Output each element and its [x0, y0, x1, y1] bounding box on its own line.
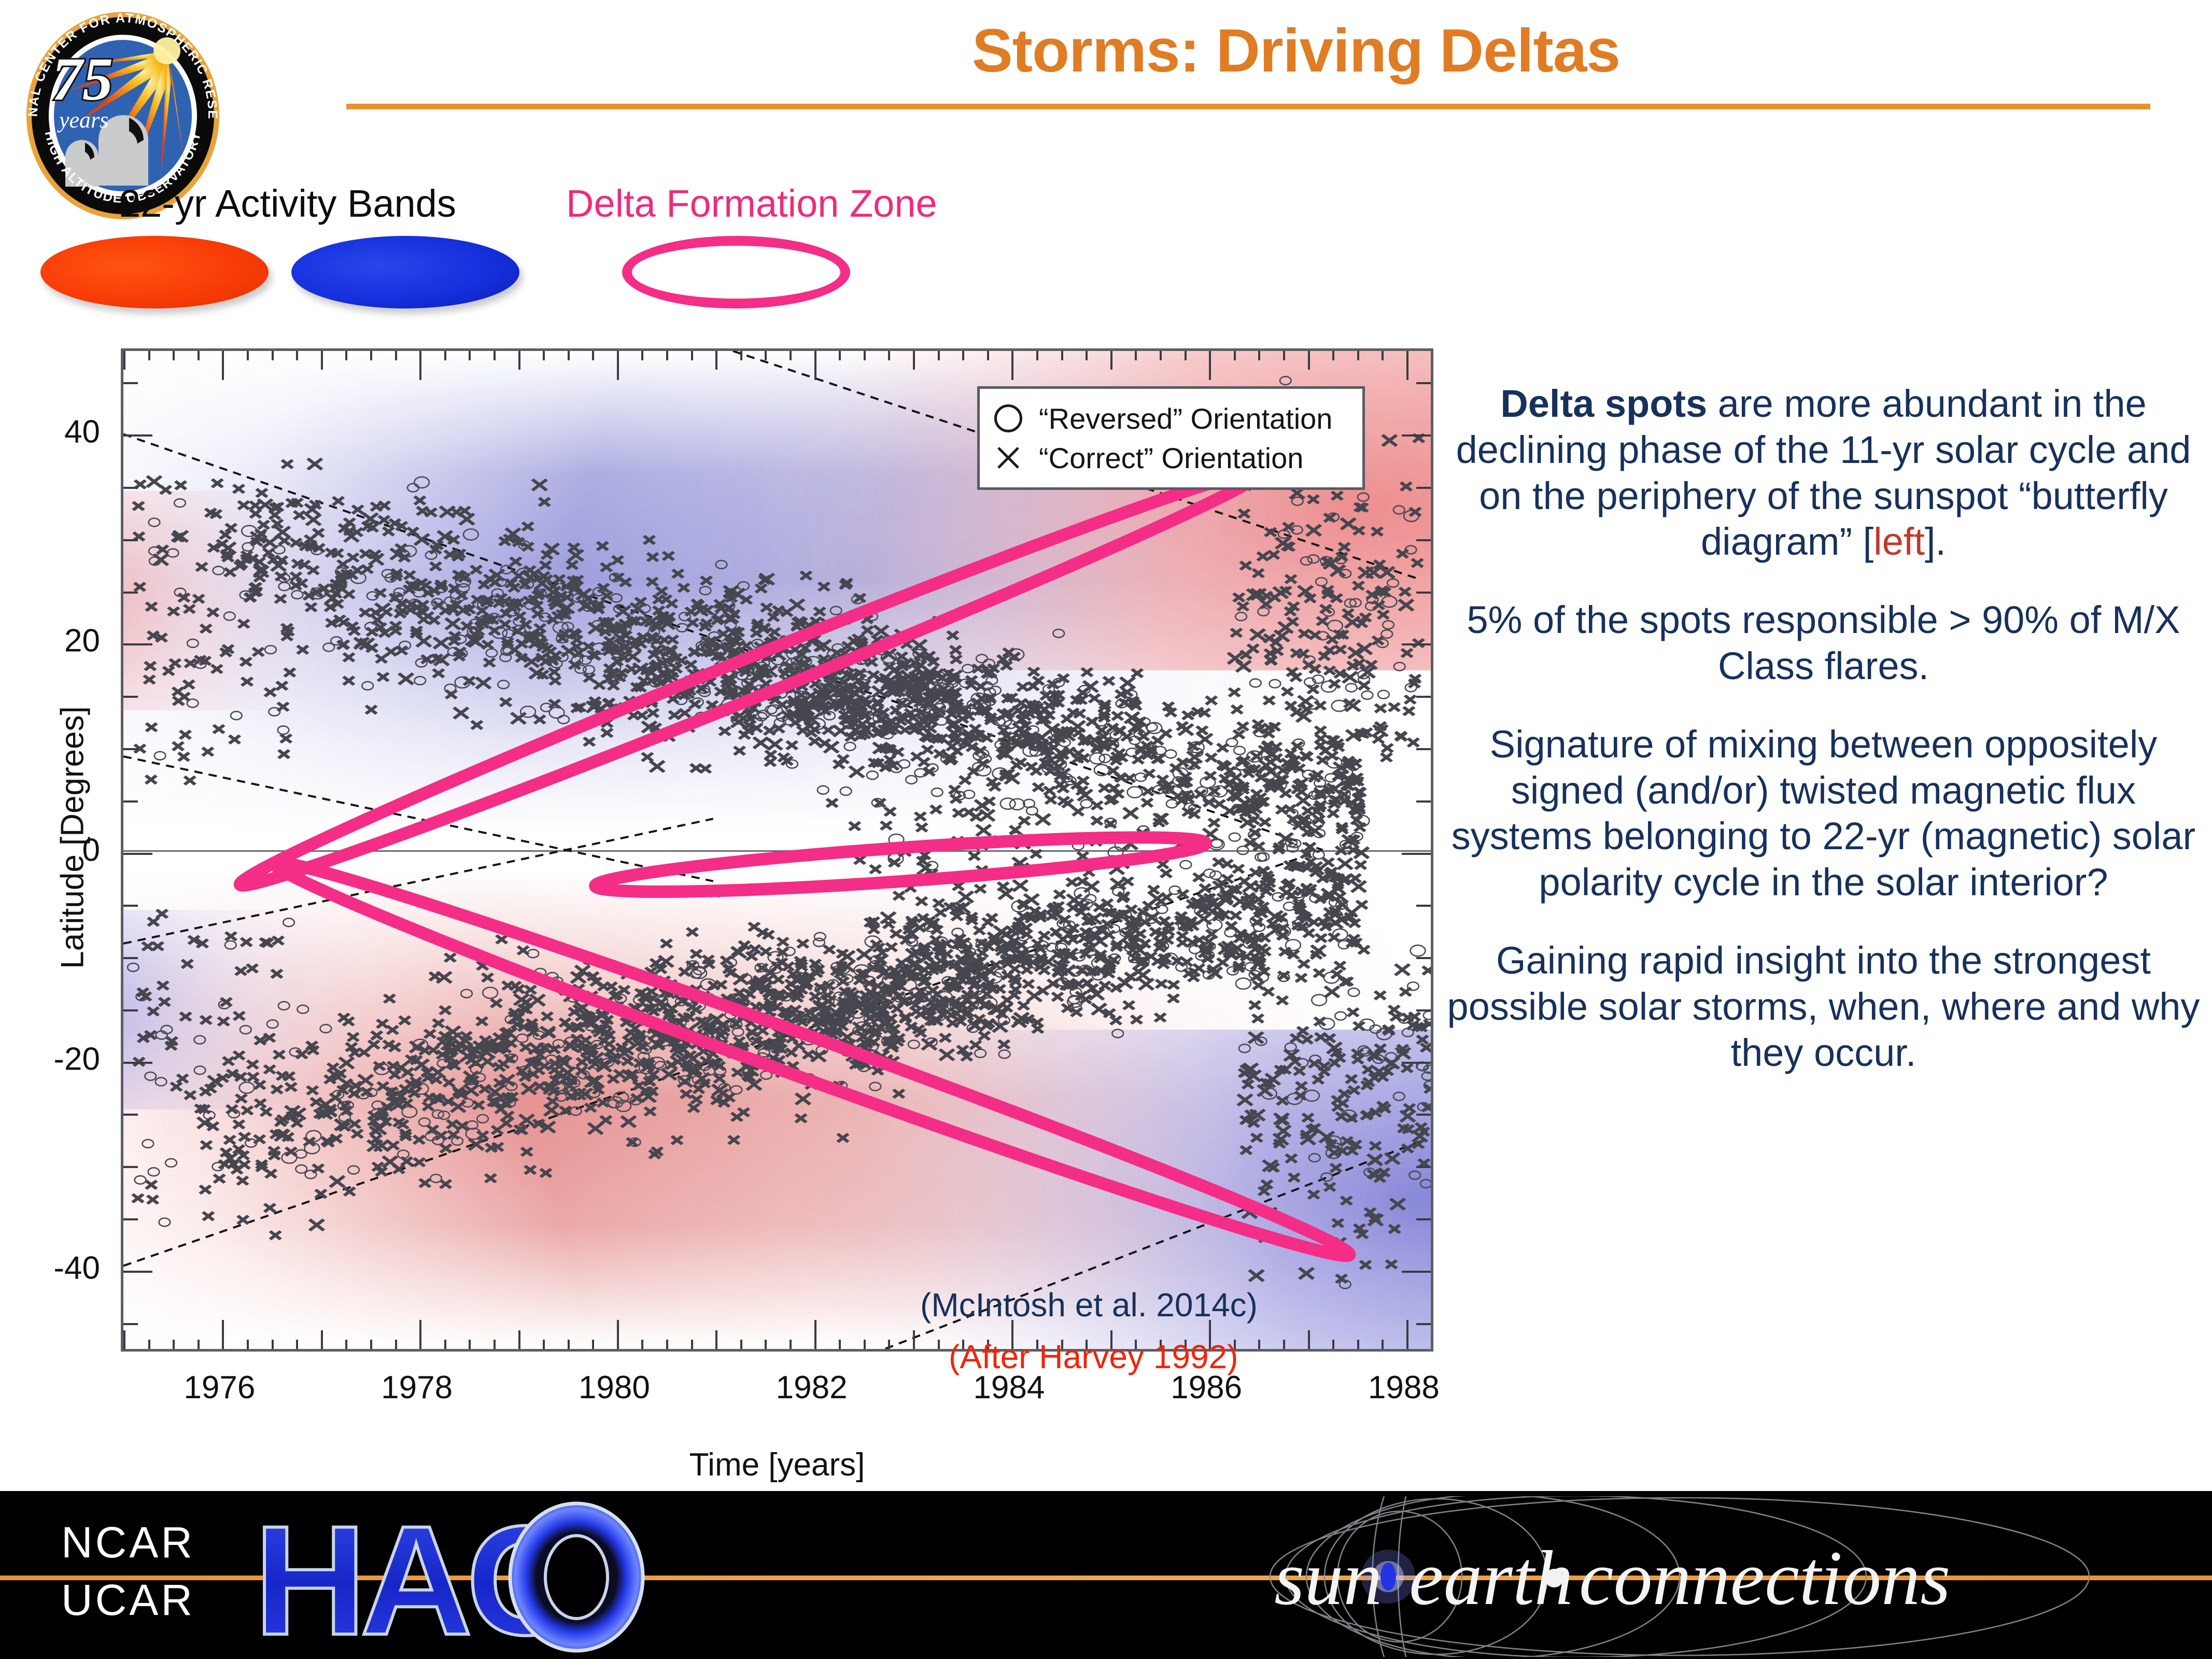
x-tick-top — [1061, 351, 1063, 360]
x-tick-label: 1976 — [184, 1369, 255, 1406]
x-tick-bottom — [1406, 1320, 1408, 1349]
y-tick-left — [123, 957, 138, 959]
x-tick-bottom — [1308, 1330, 1310, 1349]
y-tick-left — [123, 1062, 152, 1064]
x-tick-top — [1308, 351, 1310, 370]
x-tick-top — [321, 351, 323, 370]
x-tick-top — [592, 351, 594, 360]
paragraph-mixing-signature: Signature of mixing between oppositely s… — [1446, 722, 2201, 906]
y-tick-right — [1416, 905, 1431, 907]
y-axis-title: Latitude [Degrees] — [54, 656, 91, 1019]
x-tick-top — [247, 351, 249, 360]
x-tick-top — [370, 351, 372, 360]
x-tick-bottom — [321, 1330, 323, 1349]
y-tick-left — [123, 539, 138, 541]
x-tick-bottom — [938, 1340, 940, 1349]
x-tick-top — [148, 351, 150, 360]
paragraph-rapid-insight: Gaining rapid insight into the strongest… — [1446, 938, 2201, 1076]
y-tick-label: -20 — [2, 1041, 100, 1077]
x-tick-top — [641, 351, 643, 360]
sun-earth-connections-logo: sun earth connections — [1213, 1496, 2162, 1657]
x-tick-top — [444, 351, 446, 360]
x-tick-bottom — [345, 1340, 347, 1349]
x-tick-bottom — [568, 1340, 570, 1349]
ncar-ucar-wordmark: NCAR UCAR — [61, 1514, 269, 1640]
y-tick-right — [1416, 487, 1431, 489]
x-tick-top — [617, 351, 619, 380]
x-tick-bottom — [666, 1340, 668, 1349]
x-tick-bottom — [1283, 1340, 1285, 1349]
y-tick-left — [123, 1218, 138, 1220]
x-tick-bottom — [272, 1340, 274, 1349]
y-tick-right — [1416, 539, 1431, 541]
y-tick-left — [123, 434, 152, 437]
x-tick-bottom — [913, 1330, 915, 1349]
x-tick-top — [740, 351, 742, 360]
x-tick-top — [666, 351, 668, 360]
x-tick-top — [1382, 351, 1384, 360]
x-tick-top — [198, 351, 200, 360]
citation-harvey: (After Harvey 1992) — [949, 1338, 1238, 1376]
x-tick-top — [1332, 351, 1334, 360]
x-tick-top — [765, 351, 767, 360]
x-tick-bottom — [148, 1340, 150, 1349]
paragraph-flare-statistic: 5% of the spots responsible > 90% of M/X… — [1446, 597, 2201, 690]
page-title: Storms: Driving Deltas — [674, 16, 1918, 86]
x-tick-top — [715, 351, 717, 370]
x-tick-top — [1209, 351, 1211, 380]
y-tick-left — [123, 800, 138, 803]
slide-root: 75 years NATIONAL CENTER FOR ATMOSPHERIC… — [0, 0, 2212, 1659]
legend-text-reversed: “Reversed” Orientation — [1039, 402, 1332, 435]
x-tick-label: 1988 — [1368, 1369, 1440, 1406]
x-tick-bottom — [1382, 1340, 1384, 1349]
x-tick-top — [913, 351, 915, 370]
cross-marker-icon — [991, 441, 1025, 475]
y-tick-left — [123, 643, 152, 645]
x-tick-bottom — [839, 1340, 841, 1349]
x-tick-top — [1234, 351, 1236, 360]
x-tick-top — [1283, 351, 1285, 360]
y-tick-left — [123, 905, 138, 907]
y-tick-right — [1402, 1271, 1431, 1273]
y-tick-left — [123, 487, 138, 489]
chart-legend-box: “Reversed” Orientation “Correct” Orienta… — [977, 386, 1365, 490]
y-tick-right — [1416, 800, 1431, 803]
y-tick-left — [123, 382, 138, 384]
x-tick-top — [494, 351, 496, 360]
p1-rest-b: ]. — [1925, 520, 1946, 563]
x-tick-bottom — [370, 1340, 372, 1349]
red-band-swatch-icon — [40, 236, 269, 308]
lead-delta-spots: Delta spots — [1500, 382, 1707, 425]
x-tick-bottom — [691, 1340, 693, 1349]
legend-label-activity-bands: 22-yr Activity Bands — [119, 181, 456, 226]
y-tick-left — [123, 1271, 152, 1273]
y-tick-right — [1402, 643, 1431, 645]
plot-frame — [121, 348, 1433, 1352]
x-tick-top — [1406, 351, 1408, 380]
y-tick-right — [1402, 853, 1431, 855]
x-tick-bottom — [395, 1340, 397, 1349]
slide-footer: NCAR UCAR HAO — [0, 1491, 2212, 1659]
y-tick-right — [1416, 382, 1431, 384]
x-tick-bottom — [543, 1340, 545, 1349]
footer-ncar-text: NCAR — [61, 1514, 269, 1571]
x-tick-top — [1357, 351, 1359, 360]
footer-connections-text: connections — [1579, 1535, 1950, 1621]
x-tick-top — [568, 351, 570, 360]
x-tick-top — [1086, 351, 1088, 360]
y-tick-left — [123, 853, 152, 855]
y-tick-right — [1402, 1062, 1431, 1064]
x-tick-bottom — [864, 1340, 866, 1349]
butterfly-diagram-chart — [121, 348, 1433, 1352]
paragraph-delta-spots: Delta spots are more abundant in the dec… — [1446, 381, 2201, 565]
y-tick-right — [1416, 1114, 1431, 1116]
x-tick-top — [296, 351, 298, 360]
footer-ucar-text: UCAR — [61, 1571, 269, 1629]
x-tick-bottom — [740, 1340, 742, 1349]
x-tick-bottom — [494, 1340, 496, 1349]
x-tick-top — [962, 351, 964, 360]
x-tick-bottom — [469, 1340, 471, 1349]
x-tick-top — [518, 351, 520, 370]
x-tick-top — [419, 351, 421, 380]
x-tick-top — [814, 351, 816, 380]
x-tick-bottom — [1332, 1340, 1334, 1349]
blue-band-swatch-icon — [291, 236, 519, 308]
x-tick-label: 1978 — [381, 1369, 453, 1406]
x-tick-bottom — [1258, 1340, 1260, 1349]
x-tick-top — [543, 351, 545, 360]
x-tick-bottom — [123, 1330, 125, 1349]
x-tick-bottom — [296, 1340, 298, 1349]
x-tick-bottom — [1357, 1340, 1359, 1349]
footer-sun-text: sun — [1274, 1535, 1382, 1621]
y-tick-left — [123, 592, 138, 594]
x-tick-label: 1982 — [776, 1369, 848, 1406]
x-tick-bottom — [888, 1340, 890, 1349]
y-tick-right — [1416, 696, 1431, 698]
x-tick-bottom — [419, 1320, 421, 1349]
p1-red-word: left — [1873, 520, 1925, 563]
x-tick-top — [272, 351, 274, 360]
y-tick-label: 20 — [2, 623, 100, 659]
x-tick-bottom — [518, 1330, 520, 1349]
x-tick-bottom — [641, 1340, 643, 1349]
y-tick-right — [1416, 1166, 1431, 1168]
y-tick-right — [1416, 748, 1431, 750]
x-tick-bottom — [765, 1340, 767, 1349]
y-tick-left — [123, 696, 138, 698]
y-tick-left — [123, 1009, 138, 1011]
x-tick-top — [1135, 351, 1137, 360]
legend-text-correct: “Correct” Orientation — [1039, 441, 1303, 475]
x-tick-bottom — [790, 1340, 792, 1349]
body-text-column: Delta spots are more abundant in the dec… — [1446, 381, 2201, 1108]
y-tick-left — [123, 1166, 138, 1168]
delta-zone-swatch-icon — [622, 236, 850, 308]
legend-row-correct: “Correct” Orientation — [991, 441, 1351, 475]
x-tick-top — [1185, 351, 1187, 360]
x-tick-top — [173, 351, 175, 360]
x-tick-top — [395, 351, 397, 360]
svg-text:years: years — [57, 107, 108, 133]
y-tick-left — [123, 1323, 138, 1325]
y-tick-label: -40 — [2, 1249, 100, 1286]
circle-marker-icon — [991, 401, 1025, 435]
x-tick-bottom — [173, 1340, 175, 1349]
legend-label-delta-zone: Delta Formation Zone — [566, 181, 937, 226]
x-tick-top — [1160, 351, 1162, 360]
hao-logo: HAO — [249, 1498, 674, 1654]
x-tick-bottom — [247, 1340, 249, 1349]
x-tick-top — [1011, 351, 1013, 380]
x-tick-bottom — [592, 1340, 594, 1349]
y-tick-left — [123, 1114, 138, 1116]
y-tick-left — [123, 748, 138, 750]
y-tick-right — [1416, 592, 1431, 594]
x-tick-top — [839, 351, 841, 360]
x-tick-label: 1980 — [579, 1369, 650, 1406]
x-tick-top — [469, 351, 471, 360]
x-tick-top — [691, 351, 693, 360]
legend-row-reversed: “Reversed” Orientation — [991, 401, 1351, 435]
x-tick-bottom — [198, 1340, 200, 1349]
x-tick-top — [222, 351, 224, 380]
x-tick-bottom — [814, 1320, 816, 1349]
y-tick-right — [1416, 957, 1431, 959]
x-axis-title: Time [years] — [121, 1446, 1433, 1483]
x-tick-bottom — [444, 1340, 446, 1349]
x-tick-top — [888, 351, 890, 360]
x-tick-top — [987, 351, 989, 360]
x-tick-top — [1036, 351, 1038, 360]
earth-dot-icon — [1545, 1569, 1563, 1587]
y-tick-right — [1416, 1009, 1431, 1011]
x-tick-bottom — [1431, 1340, 1433, 1349]
x-tick-bottom — [222, 1320, 224, 1349]
x-tick-top — [1258, 351, 1260, 360]
sunspot-scatter-points — [123, 351, 1431, 1349]
x-tick-top — [1110, 351, 1112, 370]
citation-mcintosh: (McIntosh et al. 2014c) — [920, 1286, 1258, 1324]
y-tick-right — [1402, 434, 1431, 437]
x-tick-top — [938, 351, 940, 360]
x-tick-top — [864, 351, 866, 360]
y-tick-label: 40 — [2, 414, 100, 451]
y-tick-right — [1416, 1323, 1431, 1325]
x-tick-top — [345, 351, 347, 360]
x-tick-top — [1431, 351, 1433, 360]
x-tick-bottom — [715, 1330, 717, 1349]
title-divider — [346, 104, 2150, 109]
y-tick-right — [1416, 1218, 1431, 1220]
x-tick-top — [790, 351, 792, 360]
x-tick-top — [123, 351, 125, 370]
x-tick-bottom — [617, 1320, 619, 1349]
